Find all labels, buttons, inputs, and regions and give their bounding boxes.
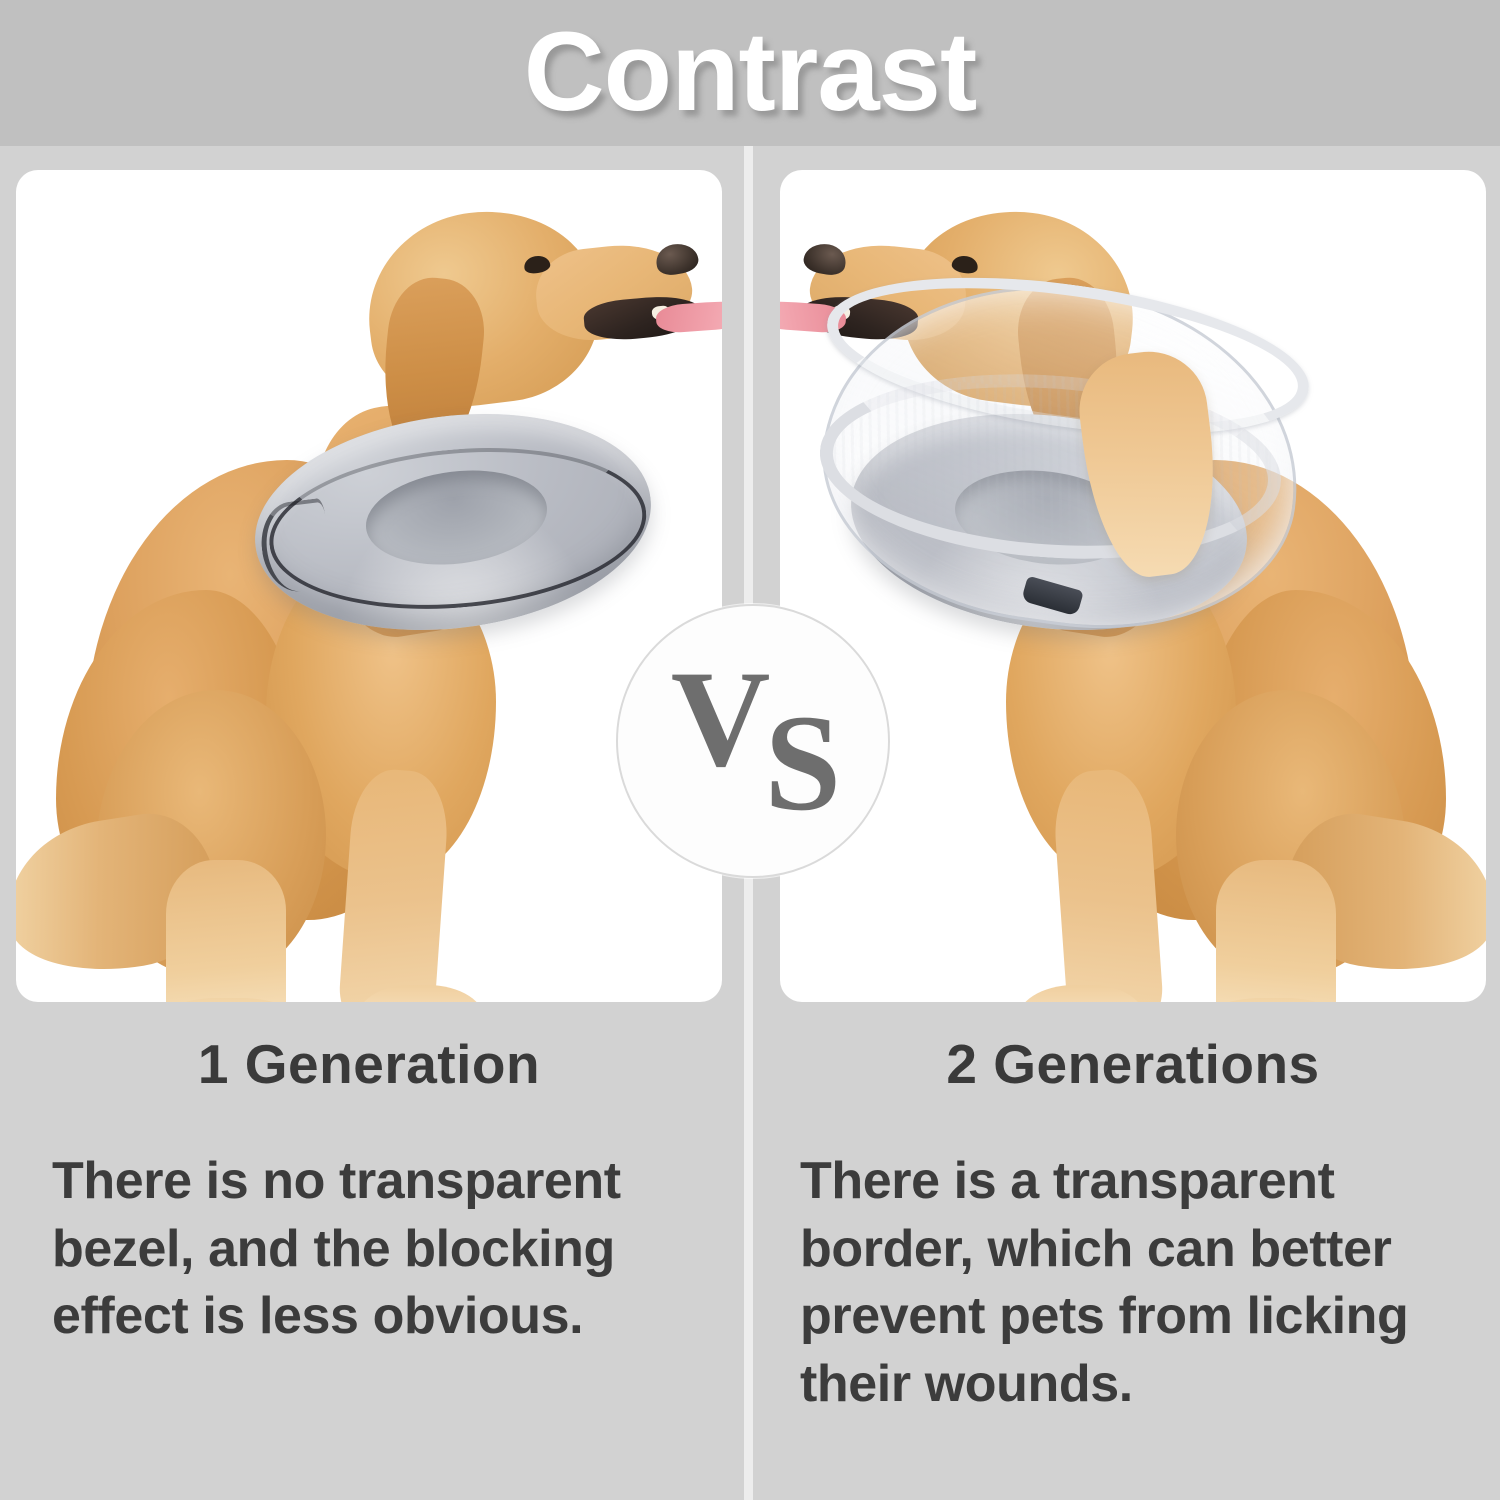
vs-badge: VS [616,604,890,878]
vs-letter-v: V [671,650,765,788]
generation-label-right: 2 Generations [780,1032,1486,1096]
product-photo-generation-1 [16,170,722,1002]
generation-label-left: 1 Generation [16,1032,722,1096]
product-photo-panel-generation-2 [780,170,1486,1002]
dog-rear-leg [166,860,286,1002]
dog-nose [802,241,849,278]
product-photo-generation-2 [780,170,1486,1002]
product-photo-panel-generation-1 [16,170,722,1002]
vs-letter-s: S [764,694,835,832]
dog-rear-leg [1216,860,1336,1002]
generation-description-right: There is a transparent border, which can… [800,1148,1470,1418]
generation-description-left: There is no transparent bezel, and the b… [52,1148,702,1351]
dog-nose [654,241,701,278]
vs-badge-label: VS [618,606,888,876]
transparent-bezel-clip [1021,576,1084,617]
page-title: Contrast [0,8,1500,137]
